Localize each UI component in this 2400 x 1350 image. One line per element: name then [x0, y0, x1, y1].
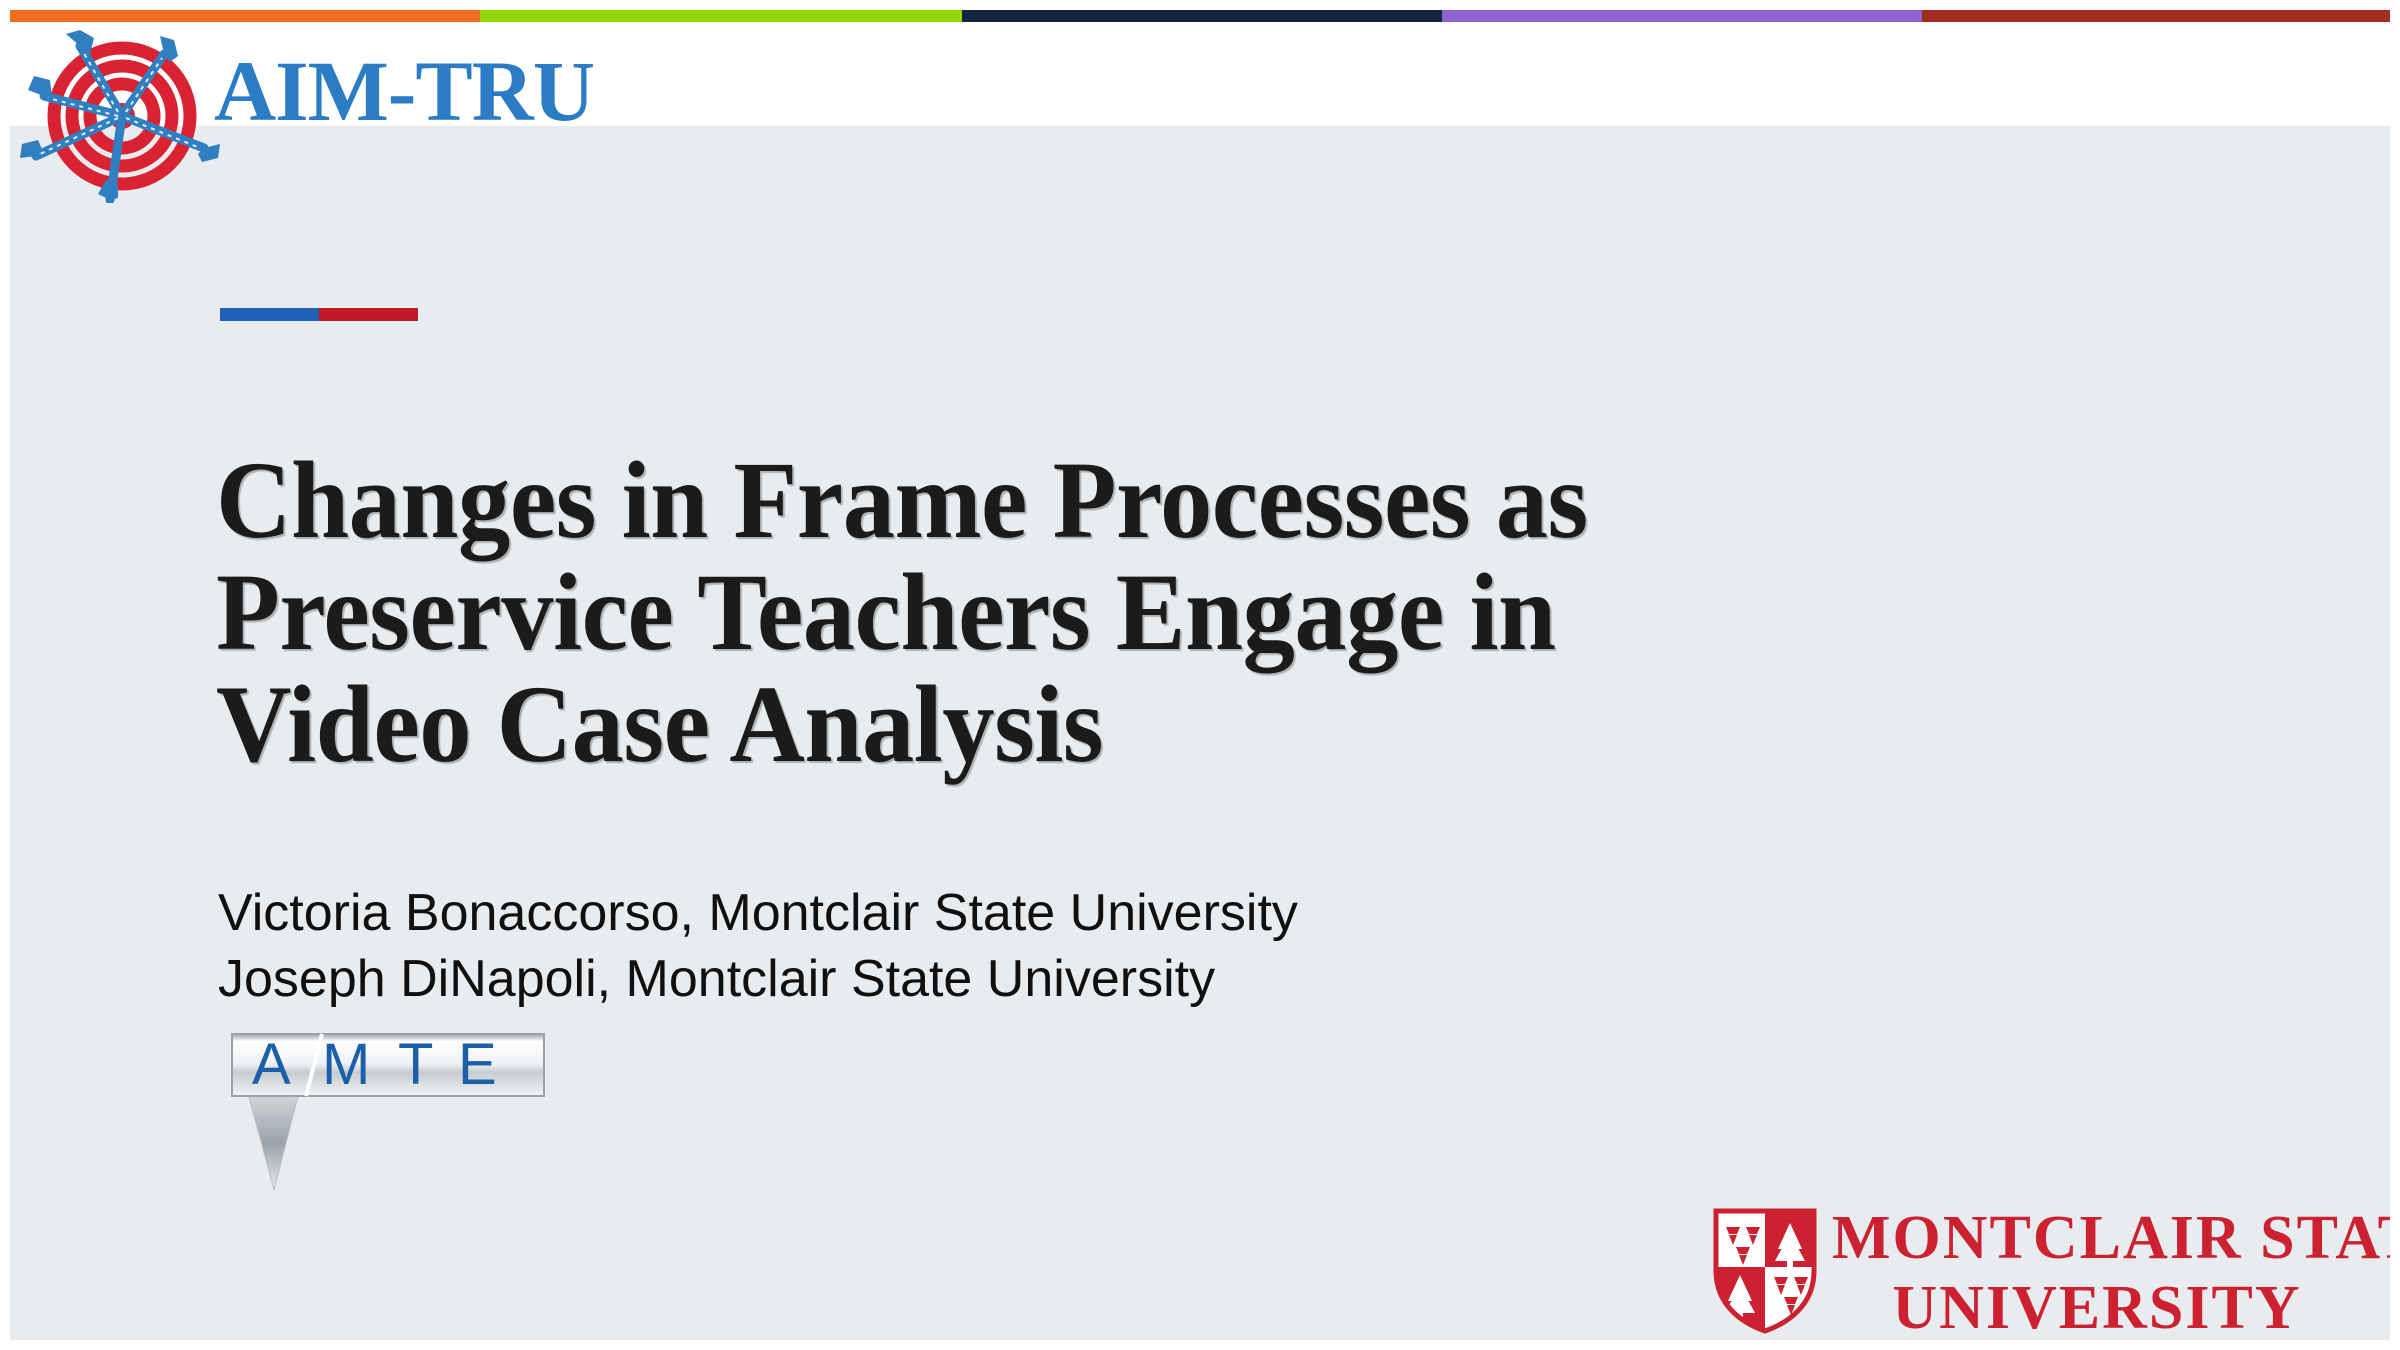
amte-logo: A M T E: [218, 1012, 558, 1212]
montclair-state-university-logo: MONTCLAIR STATE UNIVERSITY: [1710, 1205, 2370, 1335]
top-color-bar: [0, 0, 2400, 22]
aimtru-wordmark: AIM-TRU: [214, 48, 594, 134]
msu-wordmark-line-1: MONTCLAIR STATE: [1832, 1207, 2362, 1269]
slide-title-line-2: Preservice Teachers Engage in: [216, 556, 1926, 668]
color-segment-orange: [0, 0, 480, 22]
msu-shield-icon: [1710, 1205, 1820, 1335]
svg-text:A: A: [252, 1032, 291, 1097]
author-line-1: Victoria Bonaccorso, Montclair State Uni…: [218, 880, 1298, 946]
svg-text:E: E: [458, 1032, 497, 1097]
aimtru-logo: AIM-TRU: [14, 28, 654, 188]
color-segment-green: [480, 0, 962, 22]
msu-wordmark-line-2: UNIVERSITY: [1832, 1277, 2362, 1339]
svg-text:T: T: [398, 1032, 433, 1097]
accent-rule: [220, 308, 418, 321]
svg-text:M: M: [322, 1032, 370, 1097]
aimtru-target-icon: [14, 28, 224, 203]
color-segment-rust: [1922, 0, 2400, 22]
author-line-2: Joseph DiNapoli, Montclair State Univers…: [218, 946, 1298, 1012]
color-segment-navy: [962, 0, 1442, 22]
accent-rule-red: [319, 308, 418, 321]
presentation-slide: AIM-TRU Changes in Frame Processes as Pr…: [0, 0, 2400, 1350]
slide-title-line-1: Changes in Frame Processes as: [216, 444, 1926, 556]
msu-wordmark: MONTCLAIR STATE UNIVERSITY: [1832, 1207, 2362, 1339]
accent-rule-blue: [220, 308, 319, 321]
slide-title-line-3: Video Case Analysis: [216, 668, 1926, 780]
color-segment-purple: [1442, 0, 1922, 22]
slide-title: Changes in Frame Processes as Preservice…: [216, 444, 1926, 781]
author-list: Victoria Bonaccorso, Montclair State Uni…: [218, 880, 1298, 1012]
